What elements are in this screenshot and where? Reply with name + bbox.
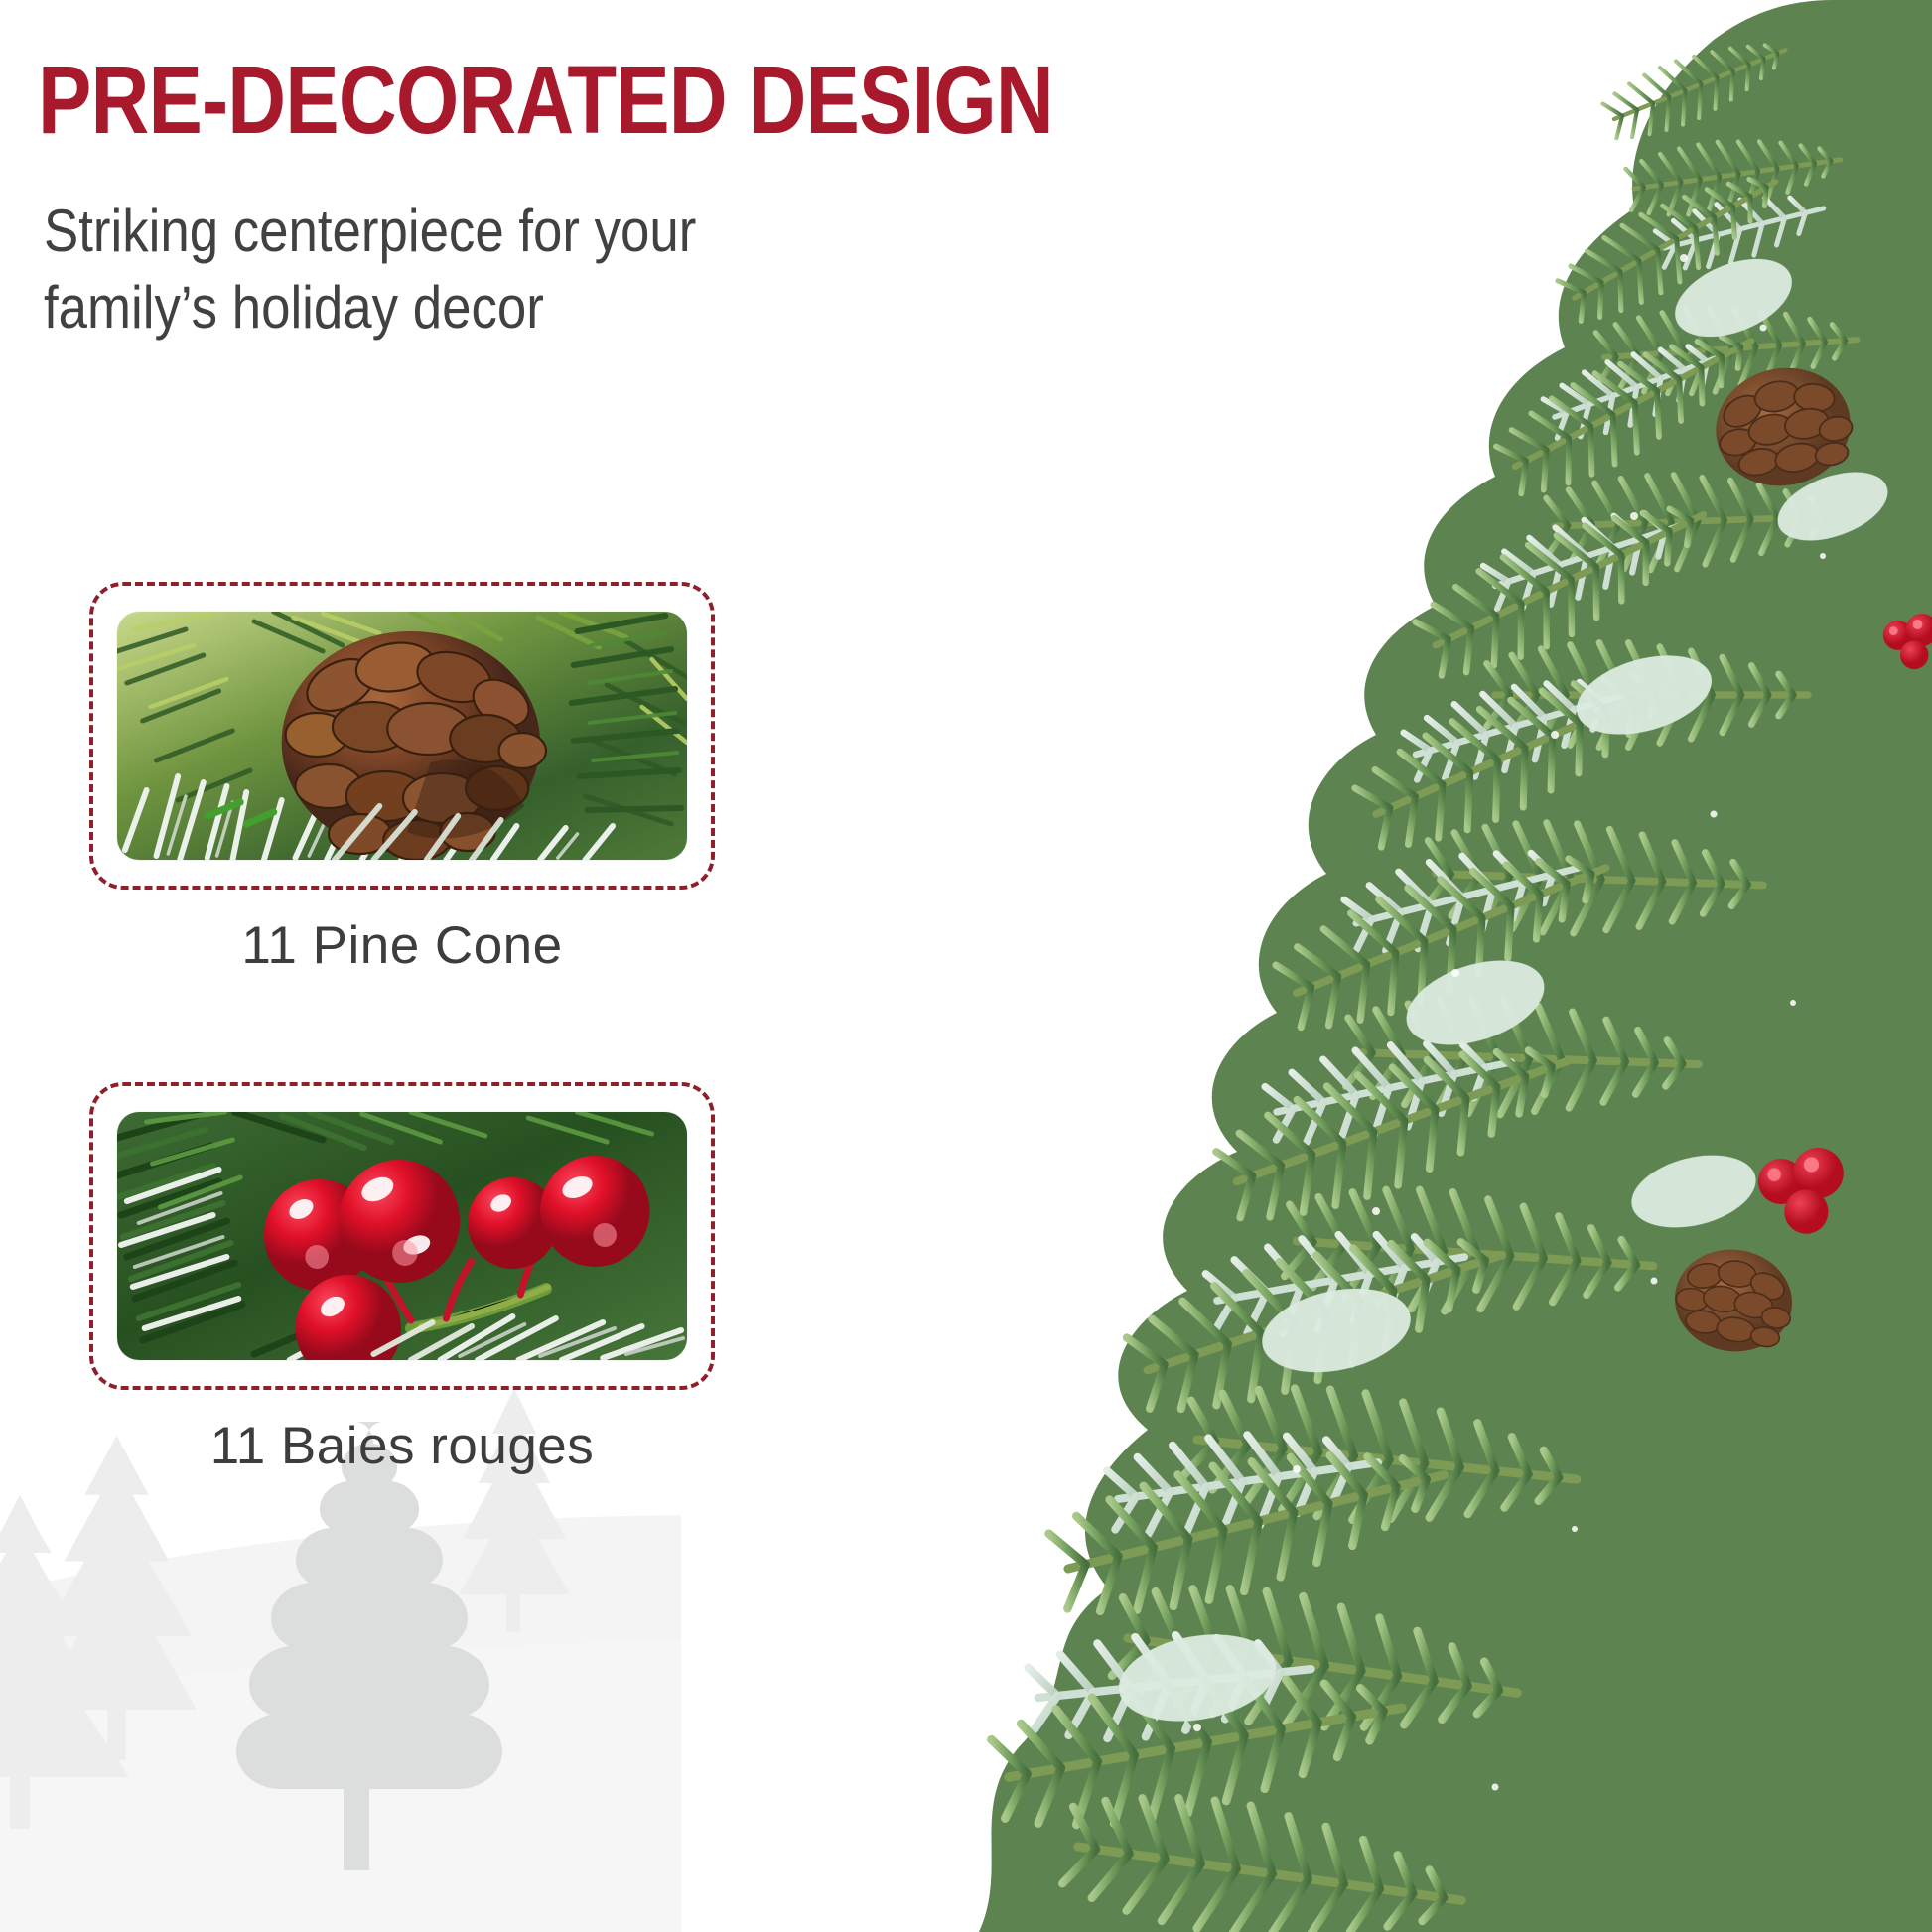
feature-caption: 11 Pine Cone: [89, 915, 715, 976]
feature-card-red-berries: 11 Baies rouges: [89, 1082, 715, 1476]
dashed-frame: [89, 582, 715, 890]
red-berries-photo: [117, 1112, 687, 1360]
page-subtitle: Striking centerpiece for your family’s h…: [44, 194, 696, 346]
feature-card-pine-cone: 11 Pine Cone: [89, 582, 715, 976]
hero-product-photo: [681, 0, 1932, 1932]
dashed-frame: [89, 1082, 715, 1390]
page-title: PRE-DECORATED DESIGN: [38, 52, 1053, 150]
pine-cone-photo: [117, 612, 687, 860]
feature-caption: 11 Baies rouges: [89, 1416, 715, 1476]
marketing-banner: PRE-DECORATED DESIGN Striking centerpiec…: [0, 0, 1932, 1932]
